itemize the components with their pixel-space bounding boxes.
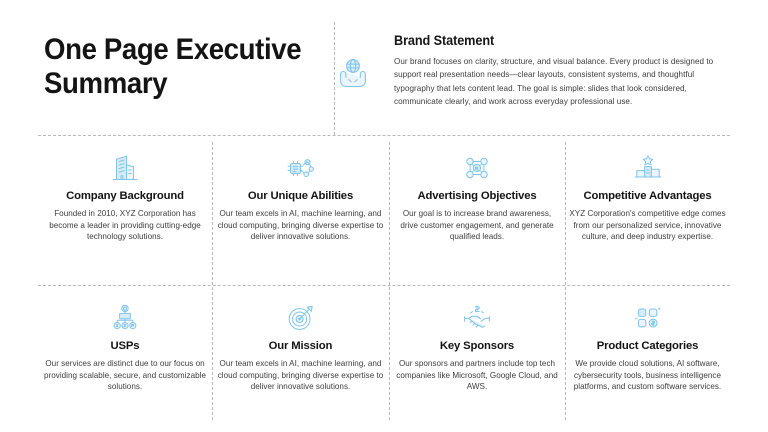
page-title: One Page Executive Summary bbox=[44, 33, 311, 101]
target-dart-icon bbox=[286, 304, 316, 332]
handshake-dollar-icon bbox=[462, 304, 492, 332]
summary-card-title: Product Categories bbox=[565, 340, 730, 352]
summary-card[interactable]: Key Sponsors Our sponsors and partners i… bbox=[389, 285, 565, 432]
podium-star-icon bbox=[633, 154, 663, 182]
card-row-2: USPs Our services are distinct due to ou… bbox=[0, 285, 768, 432]
summary-card-text: Our sponsors and partners include top te… bbox=[393, 358, 561, 393]
card-row-1: Company Background Founded in 2010, XYZ … bbox=[0, 135, 768, 283]
executive-summary-slide: One Page Executive Summary Brand Stateme… bbox=[0, 0, 768, 432]
summary-card[interactable]: Advertising Objectives Our goal is to in… bbox=[389, 135, 565, 283]
brand-statement-text: Our brand focuses on clarity, structure,… bbox=[394, 55, 732, 109]
summary-card-text: Our goal is to increase brand awareness,… bbox=[393, 208, 561, 243]
summary-card-grid: Company Background Founded in 2010, XYZ … bbox=[0, 135, 768, 432]
connected-nodes-icon bbox=[462, 154, 492, 182]
summary-card[interactable]: Product Categories We provide cloud solu… bbox=[565, 285, 730, 432]
summary-card-title: Advertising Objectives bbox=[389, 190, 565, 202]
summary-card-title: Company Background bbox=[38, 190, 212, 202]
office-building-icon bbox=[110, 154, 140, 182]
hands-holding-globe-icon bbox=[335, 55, 371, 89]
summary-card-title: USPs bbox=[38, 340, 212, 352]
summary-card-text: Our services are distinct due to our foc… bbox=[42, 358, 208, 393]
divider-header-vertical bbox=[334, 22, 335, 135]
summary-card[interactable]: Our Mission Our team excels in AI, machi… bbox=[212, 285, 389, 432]
summary-card-text: XYZ Corporation's competitive edge comes… bbox=[565, 208, 730, 243]
summary-card-title: Our Unique Abilities bbox=[212, 190, 389, 202]
summary-card[interactable]: USPs Our services are distinct due to ou… bbox=[38, 285, 212, 432]
summary-card-text: We provide cloud solutions, AI software,… bbox=[565, 358, 730, 393]
page-title-line-1: One Page Executive bbox=[44, 33, 311, 67]
summary-card-text: Founded in 2010, XYZ Corporation has bec… bbox=[42, 208, 208, 243]
product-grid-dollar-icon bbox=[633, 304, 663, 332]
summary-card[interactable]: Competitive Advantages XYZ Corporation's… bbox=[565, 135, 730, 283]
summary-card-title: Key Sponsors bbox=[389, 340, 565, 352]
summary-card-title: Competitive Advantages bbox=[565, 190, 730, 202]
summary-card[interactable]: Company Background Founded in 2010, XYZ … bbox=[38, 135, 212, 283]
summary-card-text: Our team excels in AI, machine learning,… bbox=[216, 358, 385, 393]
slide-header: One Page Executive Summary Brand Stateme… bbox=[0, 0, 768, 135]
summary-card-text: Our team excels in AI, machine learning,… bbox=[216, 208, 385, 243]
page-title-line-2: Summary bbox=[44, 67, 311, 101]
brand-statement-title: Brand Statement bbox=[394, 33, 494, 48]
ai-chip-network-icon bbox=[286, 154, 316, 182]
summary-card-title: Our Mission bbox=[212, 340, 389, 352]
hierarchy-usp-icon bbox=[110, 304, 140, 332]
summary-card[interactable]: Our Unique Abilities Our team excels in … bbox=[212, 135, 389, 283]
